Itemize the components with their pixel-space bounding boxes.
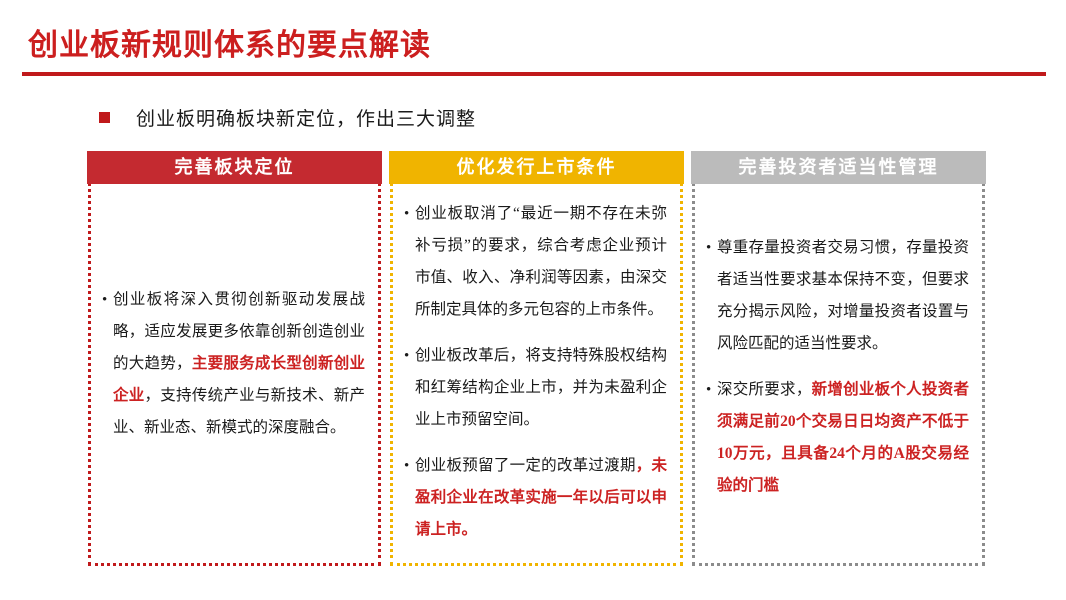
column-body-2: •创业板取消了“最近一期不存在未弥补亏损”的要求，综合考虑企业预计市值、收入、净… <box>390 184 683 566</box>
column-body-1: •创业板将深入贯彻创新驱动发展战略，适应发展更多依靠创新创造创业的大趋势，主要服… <box>88 184 381 566</box>
bullet-dot-icon: • <box>404 450 415 482</box>
plain-run: 尊重存量投资者交易习惯，存量投资者适当性要求基本保持不变，但要求充分揭示风险，对… <box>717 239 969 352</box>
column-header-2: 优化发行上市条件 <box>389 151 684 184</box>
bullet-dot-icon: • <box>706 232 717 264</box>
bullet-paragraph: •尊重存量投资者交易习惯，存量投资者适当性要求基本保持不变，但要求充分揭示风险，… <box>706 232 969 360</box>
bullet-paragraph-text: 创业板将深入贯彻创新驱动发展战略，适应发展更多依靠创新创造创业的大趋势，主要服务… <box>113 284 365 444</box>
bullet-paragraph-text: 深交所要求，新增创业板个人投资者须满足前20个交易日日均资产不低于10万元，且具… <box>717 374 969 502</box>
column-investor-suitability: 完善投资者适当性管理 •尊重存量投资者交易习惯，存量投资者适当性要求基本保持不变… <box>692 152 985 566</box>
bullet-paragraph-text: 创业板预留了一定的改革过渡期，未盈利企业在改革实施一年以后可以申请上市。 <box>415 450 667 546</box>
bullet-paragraph-text: 创业板取消了“最近一期不存在未弥补亏损”的要求，综合考虑企业预计市值、收入、净利… <box>415 198 667 326</box>
bullet-dot-icon: • <box>706 374 717 406</box>
square-bullet-icon <box>99 112 110 123</box>
bullet-paragraph: •创业板改革后，将支持特殊股权结构和红筹结构企业上市，并为未盈利企业上市预留空间… <box>404 340 667 436</box>
bullet-paragraph: •深交所要求，新增创业板个人投资者须满足前20个交易日日均资产不低于10万元，且… <box>706 374 969 502</box>
bullet-dot-icon: • <box>404 340 415 372</box>
plain-run: 创业板改革后，将支持特殊股权结构和红筹结构企业上市，并为未盈利企业上市预留空间。 <box>415 347 667 428</box>
bullet-paragraph-text: 尊重存量投资者交易习惯，存量投资者适当性要求基本保持不变，但要求充分揭示风险，对… <box>717 232 969 360</box>
bullet-dot-icon: • <box>102 284 113 316</box>
bullet-paragraph: •创业板预留了一定的改革过渡期，未盈利企业在改革实施一年以后可以申请上市。 <box>404 450 667 546</box>
column-header-1: 完善板块定位 <box>87 151 382 184</box>
three-column-group: 完善板块定位 •创业板将深入贯彻创新驱动发展战略，适应发展更多依靠创新创造创业的… <box>88 152 986 566</box>
title-divider <box>22 72 1046 76</box>
column-board-positioning: 完善板块定位 •创业板将深入贯彻创新驱动发展战略，适应发展更多依靠创新创造创业的… <box>88 152 381 566</box>
plain-run: 深交所要求， <box>717 381 812 398</box>
subheading-text: 创业板明确板块新定位，作出三大调整 <box>136 104 476 131</box>
column-listing-conditions: 优化发行上市条件 •创业板取消了“最近一期不存在未弥补亏损”的要求，综合考虑企业… <box>390 152 683 566</box>
bullet-paragraph: •创业板取消了“最近一期不存在未弥补亏损”的要求，综合考虑企业预计市值、收入、净… <box>404 198 667 326</box>
page-title: 创业板新规则体系的要点解读 <box>28 20 431 64</box>
bullet-dot-icon: • <box>404 198 415 230</box>
plain-run: 创业板预留了一定的改革过渡期 <box>415 457 636 474</box>
bullet-paragraph-text: 创业板改革后，将支持特殊股权结构和红筹结构企业上市，并为未盈利企业上市预留空间。 <box>415 340 667 436</box>
column-body-3: •尊重存量投资者交易习惯，存量投资者适当性要求基本保持不变，但要求充分揭示风险，… <box>692 184 985 566</box>
plain-run: ，支持传统产业与新技术、新产业、新业态、新模式的深度融合。 <box>113 387 365 436</box>
subheading-row: 创业板明确板块新定位，作出三大调整 <box>99 104 476 131</box>
column-header-3: 完善投资者适当性管理 <box>691 151 986 184</box>
bullet-paragraph: •创业板将深入贯彻创新驱动发展战略，适应发展更多依靠创新创造创业的大趋势，主要服… <box>102 284 365 444</box>
plain-run: 创业板取消了“最近一期不存在未弥补亏损”的要求，综合考虑企业预计市值、收入、净利… <box>415 205 667 318</box>
